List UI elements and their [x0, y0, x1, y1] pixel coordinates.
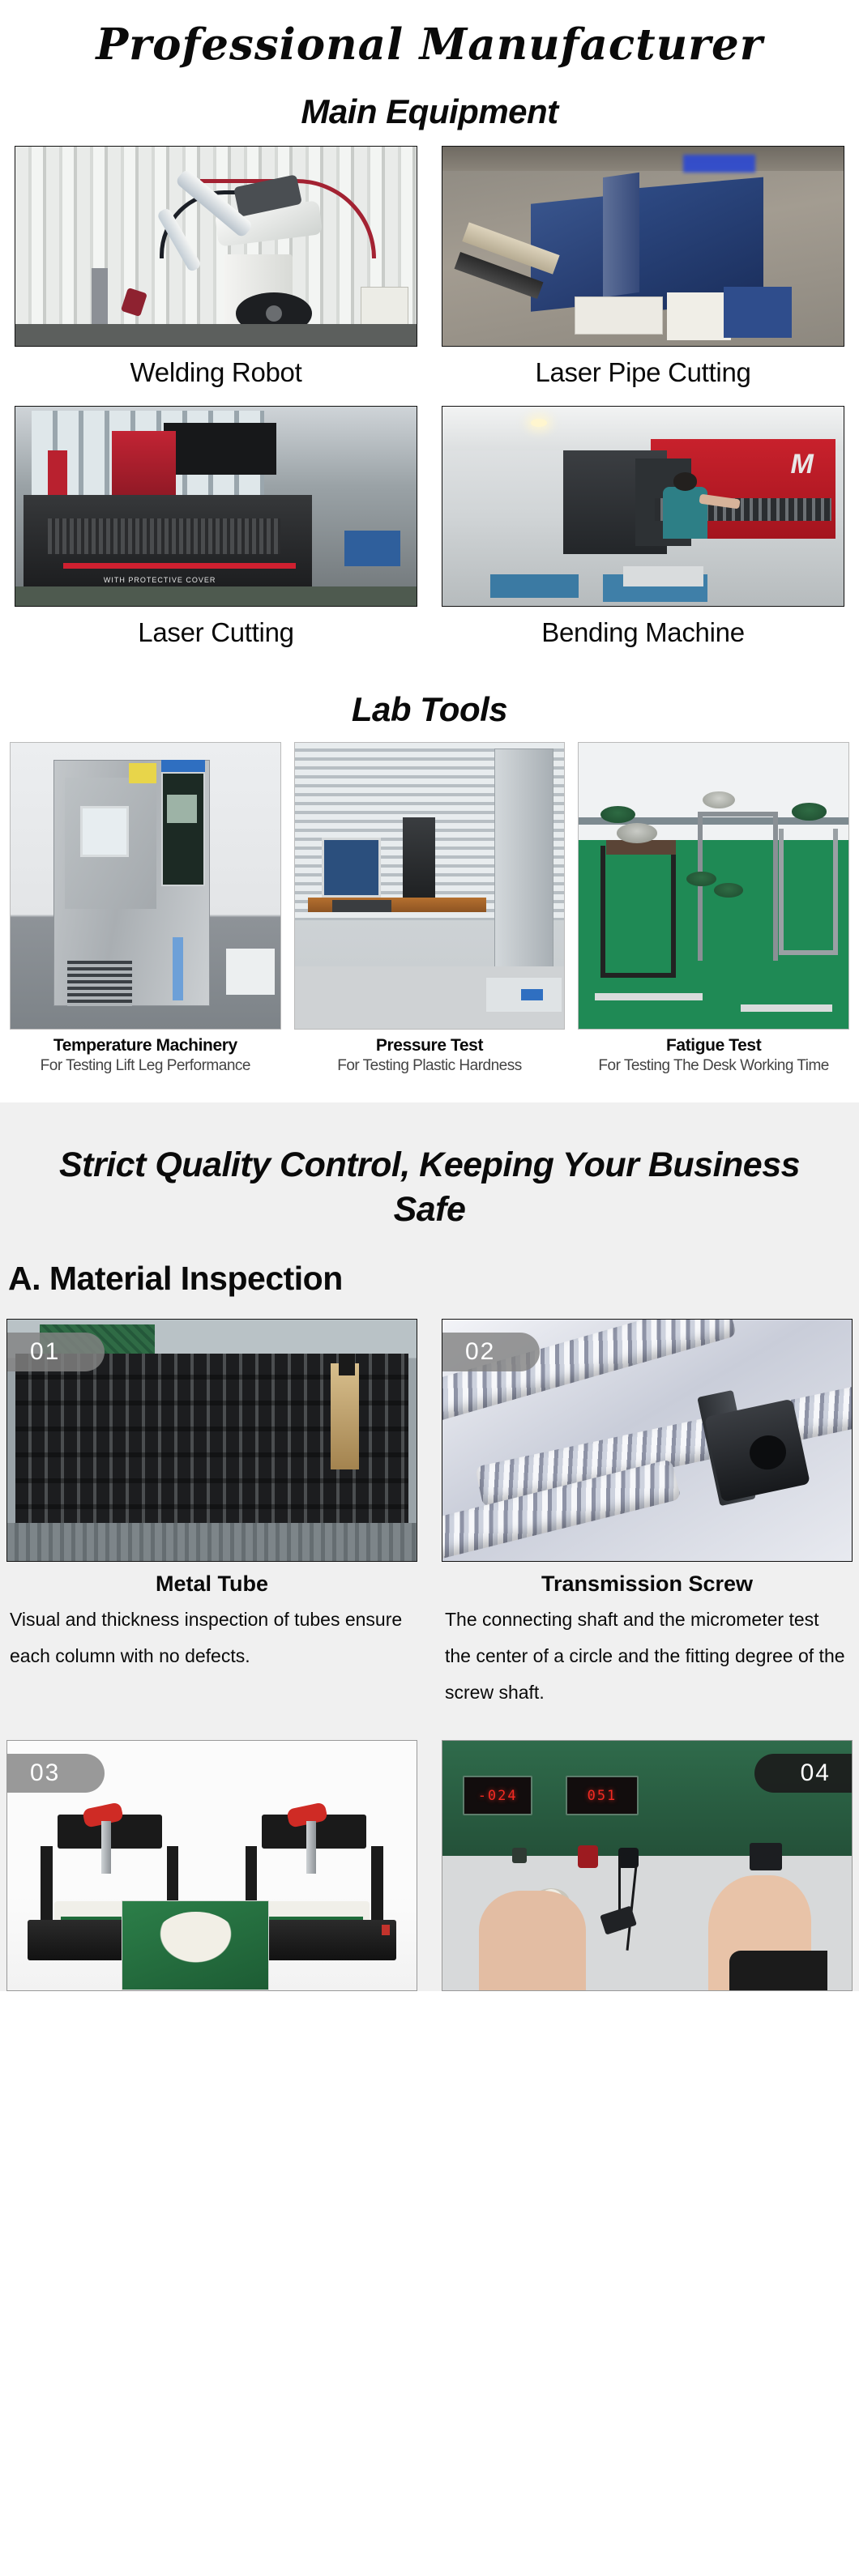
temperature-machinery-photo: [10, 742, 281, 1030]
brand-title: Professional Manufacturer: [0, 0, 859, 75]
material-inspection-subheading: A. Material Inspection: [0, 1253, 859, 1319]
quality-heading: Strict Quality Control, Keeping Your Bus…: [0, 1132, 859, 1253]
qc-card-pcb-test: 03: [6, 1740, 417, 1991]
equipment-caption: Laser Cutting: [138, 607, 293, 666]
motor-display-left: -024: [478, 1788, 518, 1804]
equipment-item-welding-robot: Welding Robot: [15, 146, 417, 406]
step-badge-03: 03: [7, 1754, 105, 1793]
laser-pipe-cutting-photo: [442, 146, 844, 347]
laser-cutting-photo: WITH PROTECTIVE COVER: [15, 406, 417, 607]
equipment-item-bending-machine: M Bending Machine: [442, 406, 844, 666]
step-badge-04: 04: [754, 1754, 852, 1793]
lab-item-subtitle: For Testing Plastic Hardness: [337, 1056, 521, 1088]
equipment-caption: Laser Pipe Cutting: [535, 347, 750, 406]
qc-card-metal-tube: 01 Metal Tube Visual and thickness inspe…: [6, 1319, 417, 1725]
equipment-caption: Bending Machine: [541, 607, 745, 666]
lab-tools-title: Lab Tools: [0, 666, 859, 742]
quality-control-section: Strict Quality Control, Keeping Your Bus…: [0, 1102, 859, 1991]
lab-item-name: Pressure Test: [376, 1030, 483, 1056]
material-inspection-grid: 01 Metal Tube Visual and thickness inspe…: [0, 1319, 859, 1725]
qc-card-title: Transmission Screw: [442, 1562, 853, 1601]
lab-item-subtitle: For Testing Lift Leg Performance: [41, 1056, 250, 1088]
step-badge-01: 01: [7, 1333, 105, 1371]
qc-card-motor-test: -024 051 04: [442, 1740, 853, 1991]
fatigue-test-photo: [578, 742, 849, 1030]
qc-card-transmission-screw: 02 Transmission Screw The connecting sha…: [442, 1319, 853, 1725]
equipment-item-laser-cutting: WITH PROTECTIVE COVER Laser Cutting: [15, 406, 417, 666]
pressure-test-photo: [294, 742, 566, 1030]
lab-item-pressure-test: Pressure Test For Testing Plastic Hardne…: [294, 742, 566, 1088]
transmission-screw-photo: 02: [442, 1319, 853, 1562]
lab-item-subtitle: For Testing The Desk Working Time: [598, 1056, 828, 1088]
lab-item-fatigue-test: Fatigue Test For Testing The Desk Workin…: [578, 742, 849, 1088]
motor-test-photo: -024 051 04: [442, 1740, 853, 1991]
product-detail-page: Professional Manufacturer Main Equipment: [0, 0, 859, 1991]
inspection-grid-secondary: 03 -024 051: [0, 1725, 859, 1991]
main-equipment-title: Main Equipment: [0, 75, 859, 146]
equipment-item-laser-pipe-cutting: Laser Pipe Cutting: [442, 146, 844, 406]
lab-item-name: Fatigue Test: [666, 1030, 761, 1056]
motor-display-right: 051: [588, 1788, 618, 1804]
lab-tools-grid: Temperature Machinery For Testing Lift L…: [0, 742, 859, 1088]
equipment-caption: Welding Robot: [130, 347, 302, 406]
metal-tube-photo: 01: [6, 1319, 417, 1562]
pcb-test-photo: 03: [6, 1740, 417, 1991]
qc-card-body: Visual and thickness inspection of tubes…: [6, 1601, 417, 1689]
step-badge-02: 02: [442, 1333, 540, 1371]
equipment-grid: Welding Robot Laser Pipe Cutting: [0, 146, 859, 666]
lab-item-name: Temperature Machinery: [53, 1030, 237, 1056]
laser-machine-label: WITH PROTECTIVE COVER: [104, 576, 216, 584]
welding-robot-photo: [15, 146, 417, 347]
qc-card-body: The connecting shaft and the micrometer …: [442, 1601, 853, 1725]
qc-card-title: Metal Tube: [6, 1562, 417, 1601]
lab-item-temperature-machinery: Temperature Machinery For Testing Lift L…: [10, 742, 281, 1088]
bending-machine-photo: M: [442, 406, 844, 607]
